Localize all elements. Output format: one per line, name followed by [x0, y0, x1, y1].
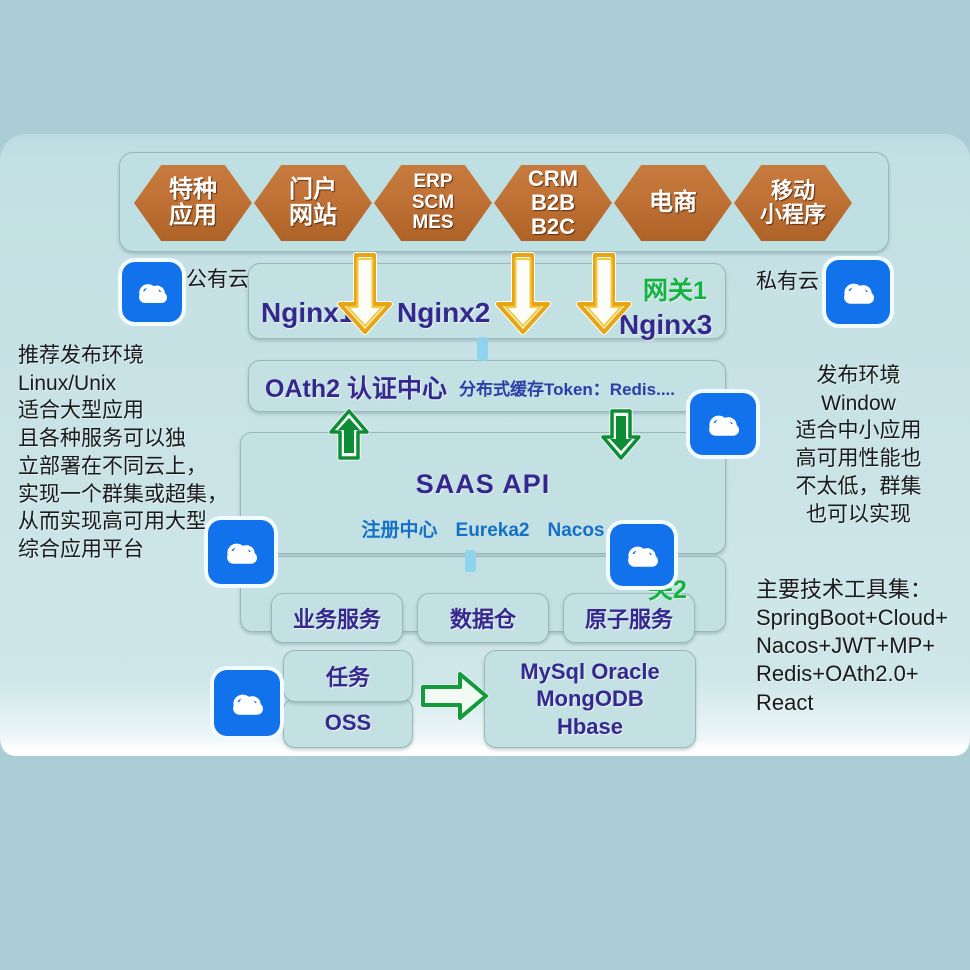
gateway1-label: 网关1 — [643, 271, 707, 307]
oauth2-title: OAth2 认证中心 — [265, 369, 447, 405]
gold-down-arrow-3 — [575, 252, 633, 336]
left-note: 推荐发布环境 Linux/Unix 适合大型应用 且各种服务可以独 立部署在不同… — [18, 342, 233, 564]
app-hex-line: 特种 — [169, 177, 217, 203]
service-atomic-label: 原子服务 — [585, 602, 673, 634]
service-warehouse-label: 数据仓 — [450, 602, 516, 634]
cloud-glyph — [620, 539, 664, 571]
right-note-line: 也可以实现 — [756, 501, 961, 529]
tech-stack-note: 主要技术工具集： SpringBoot+Cloud+ Nacos+JWT+MP+… — [756, 576, 970, 717]
app-hex-line: MES — [412, 213, 454, 234]
app-hex-line: 小程序 — [760, 203, 826, 227]
cloud-icon-gateway2[interactable] — [610, 524, 674, 586]
eureka2-label: Eureka2 — [456, 520, 530, 541]
oauth2-auth-center-container: OAth2 认证中心 分布式缓存Token：Redis.... — [248, 360, 726, 412]
right-note-line: 适合中小应用 — [756, 417, 961, 445]
right-note-line: Window — [756, 390, 961, 418]
private-cloud-label: 私有云 — [756, 268, 819, 296]
public-cloud-label: 公有云 — [186, 266, 249, 294]
left-note-line: 适合大型应用 — [18, 397, 233, 425]
right-note-line: 不太低，群集 — [756, 473, 961, 501]
app-hex-mobile-miniprogram[interactable]: 移动小程序 — [734, 165, 852, 241]
left-note-line: 且各种服务可以独 — [18, 425, 233, 453]
stack-note-line: SpringBoot+Cloud+ — [756, 604, 970, 632]
nginx2-label[interactable]: Nginx2 — [397, 297, 490, 329]
left-note-line: 推荐发布环境 — [18, 342, 233, 370]
db-line-1: MySql Oracle — [520, 658, 659, 686]
app-hex-line: 移动 — [760, 179, 826, 203]
left-note-line: 从而实现高可用大型 — [18, 508, 233, 536]
cloud-glyph — [225, 687, 269, 719]
stack-note-line: Nacos+JWT+MP+ — [756, 632, 970, 660]
app-hex-line: SCM — [412, 193, 454, 214]
db-line-2: MongODB — [520, 685, 659, 713]
gateway1-nginx-container: 网关1 Nginx1 Nginx2 Nginx3 — [248, 263, 726, 339]
database-container[interactable]: MySql Oracle MongODB Hbase — [484, 650, 696, 748]
db-line-3: Hbase — [520, 713, 659, 741]
service-data-warehouse[interactable]: 数据仓 — [417, 593, 549, 643]
stack-note-line: 主要技术工具集： — [756, 576, 970, 604]
connector-saas-services — [465, 550, 476, 572]
app-hex-ecommerce[interactable]: 电商 — [614, 165, 732, 241]
token-cache-label: 分布式缓存Token：Redis.... — [459, 375, 675, 400]
left-note-line: Linux/Unix — [18, 370, 233, 398]
left-note-line: 立部署在不同云上， — [18, 453, 233, 481]
right-note-line: 高可用性能也 — [756, 445, 961, 473]
service-task-label: 任务 — [326, 660, 370, 692]
service-oss-label: OSS — [325, 710, 371, 736]
cloud-glyph — [219, 536, 263, 568]
nginx3-label[interactable]: Nginx3 — [619, 309, 712, 341]
left-note-line: 实现一个群集或超集， — [18, 481, 233, 509]
left-note-line: 综合应用平台 — [18, 536, 233, 564]
diagram-canvas: 特种应用 门户网站 ERPSCMMES CRMB2BB2C 电商 移动小程序 网… — [0, 0, 970, 970]
cloud-icon-saas-left[interactable] — [208, 520, 274, 584]
nacos-label: Nacos — [547, 520, 604, 541]
app-hex-line: ERP — [412, 172, 454, 193]
app-hex-special-application[interactable]: 特种应用 — [134, 165, 252, 241]
gold-down-arrow-2 — [494, 252, 552, 336]
right-note: 发布环境 Window 适合中小应用 高可用性能也 不太低，群集 也可以实现 — [756, 362, 961, 528]
app-hex-line: B2B — [528, 191, 578, 215]
cloud-glyph — [701, 408, 745, 440]
app-hex-line: 网站 — [289, 203, 337, 229]
app-hex-portal-website[interactable]: 门户网站 — [254, 165, 372, 241]
cloud-icon-storage[interactable] — [214, 670, 280, 736]
application-layer-container: 特种应用 门户网站 ERPSCMMES CRMB2BB2C 电商 移动小程序 — [119, 152, 889, 252]
service-task[interactable]: 任务 — [283, 650, 413, 702]
app-hex-line: CRM — [528, 167, 578, 191]
app-hex-line: 门户 — [289, 177, 337, 203]
green-down-arrow — [600, 408, 642, 462]
connector-gateway-auth — [477, 337, 488, 361]
right-note-line: 发布环境 — [756, 362, 961, 390]
green-up-arrow — [328, 408, 370, 462]
gold-down-arrow-1 — [336, 252, 394, 336]
cloud-icon-auth[interactable] — [690, 393, 756, 455]
green-right-arrow — [420, 668, 490, 724]
cloud-glyph — [132, 277, 172, 307]
saas-api-title: SAAS API — [241, 469, 725, 500]
service-business[interactable]: 业务服务 — [271, 593, 403, 643]
app-hex-line: B2C — [528, 215, 578, 239]
app-hex-line: 电商 — [649, 190, 697, 216]
app-hex-erp-scm-mes[interactable]: ERPSCMMES — [374, 165, 492, 241]
cloud-icon-private[interactable] — [826, 260, 890, 324]
stack-note-line: Redis+OAth2.0+ — [756, 660, 970, 688]
app-hex-line: 应用 — [169, 203, 217, 229]
cloud-glyph — [836, 276, 880, 308]
stack-note-line: React — [756, 689, 970, 717]
app-hex-crm-b2b-b2c[interactable]: CRMB2BB2C — [494, 165, 612, 241]
service-oss[interactable]: OSS — [283, 698, 413, 748]
service-business-label: 业务服务 — [293, 602, 381, 634]
registry-center-label: 注册中心 — [362, 520, 438, 541]
cloud-icon-public[interactable] — [122, 262, 182, 322]
